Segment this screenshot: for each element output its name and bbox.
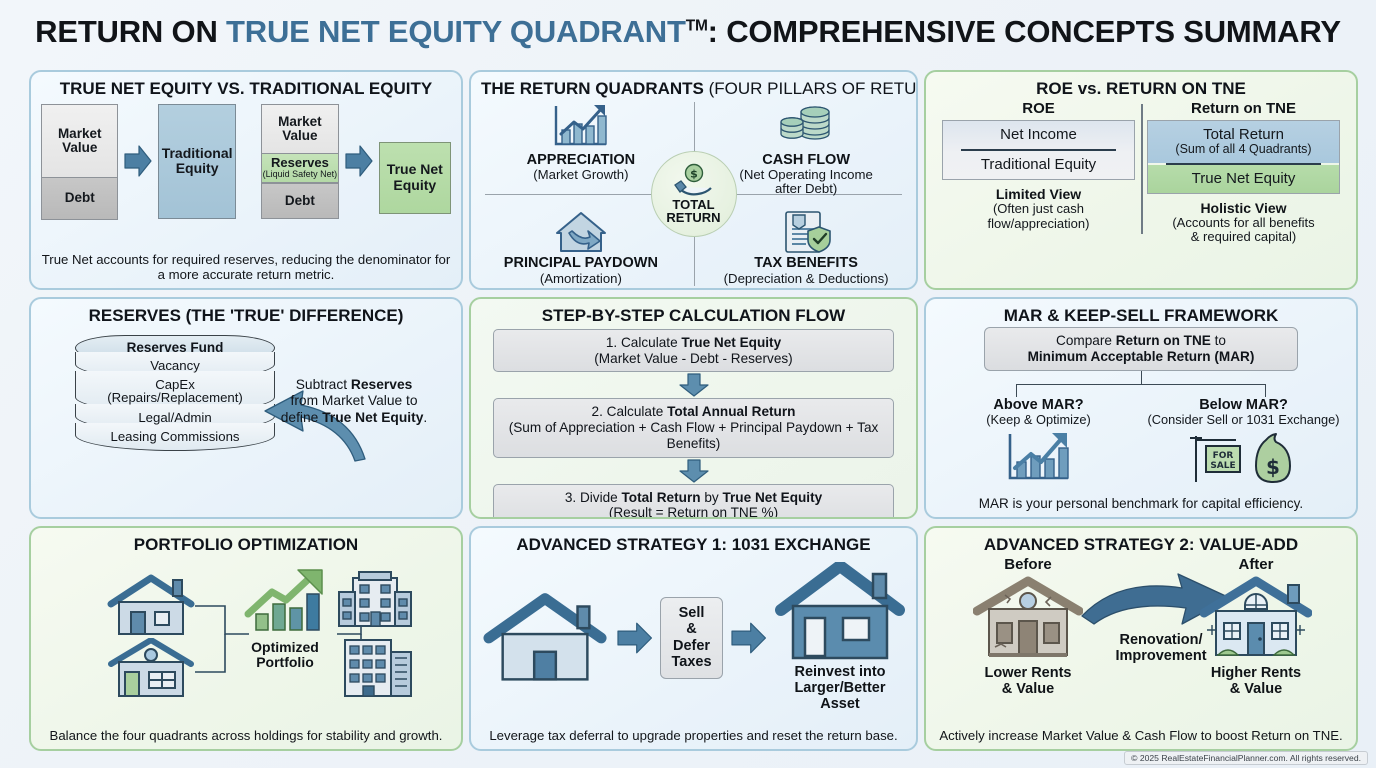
step-2-bold: Total Annual Return (667, 404, 795, 419)
panel-title: ADVANCED STRATEGY 1: 1031 EXCHANGE (481, 536, 906, 554)
svg-text:SALE: SALE (1210, 461, 1235, 471)
note-post-3: . (423, 410, 427, 425)
reinvest-label: Reinvest into Larger/Better Asset (774, 665, 906, 713)
traditional-stack: Market Value Debt (41, 104, 118, 220)
right-arrow-icon (731, 621, 766, 655)
tne-denominator: True Net Equity (1148, 165, 1339, 193)
panel-true-net-equity-vs-traditional: TRUE NET EQUITY VS. TRADITIONAL EQUITY M… (29, 70, 463, 290)
compare-bold: Return on TNE (1116, 333, 1211, 348)
quadrant-principal-paydown: PRINCIPAL PAYDOWN (Amortization) (481, 209, 681, 285)
total-return-label: TOTAL RETURN (666, 198, 720, 224)
for-sale-sign-and-money-bag-icon: FOR SALE $ (1184, 430, 1304, 486)
hand-with-coin-icon: $ (672, 163, 716, 197)
tne-numerator: Total Return (Sum of all 4 Quadrants) (1148, 121, 1339, 163)
rundown-house-icon (973, 575, 1083, 665)
market-value-segment: Market Value (42, 105, 117, 177)
below-mar-column: Below MAR? (Consider Sell or 1031 Exchan… (1141, 397, 1346, 485)
apartment-building-icon (337, 568, 417, 630)
panel-1031-exchange: ADVANCED STRATEGY 1: 1031 EXCHANGE Sell … (469, 526, 918, 751)
down-arrow-2-container (481, 459, 906, 483)
quadrant-name: PRINCIPAL PAYDOWN (481, 256, 681, 271)
true-net-equity-box: True Net Equity (379, 142, 451, 214)
tne-footnote: Holistic View (Accounts for all benefits… (1147, 200, 1340, 245)
panel-caption: Balance the four quadrants across holdin… (39, 728, 453, 744)
quadrant-sub: (Depreciation & Deductions) (706, 272, 906, 286)
quadrant-sub: (Market Growth) (481, 168, 681, 182)
note-bold: Reserves (351, 377, 412, 392)
mar-outcomes: Above MAR? (Keep & Optimize) Below MAR? … (936, 397, 1346, 485)
growth-chart-icon (1004, 430, 1074, 486)
branch-stem (1141, 371, 1142, 384)
debt-segment: Debt (42, 177, 117, 219)
house-icon (103, 572, 199, 638)
down-arrow-icon (677, 459, 711, 483)
step-2-line1: 2. Calculate Total Annual Return (500, 404, 887, 420)
below-mar-sub: (Consider Sell or 1031 Exchange) (1141, 413, 1346, 427)
panel-roe-vs-return-tne: ROE vs. RETURN ON TNE ROE Net Income Tra… (924, 70, 1358, 290)
steps-container: 1. Calculate True Net Equity (Market Val… (481, 329, 906, 519)
panel-calculation-flow: STEP-BY-STEP CALCULATION FLOW 1. Calcula… (469, 297, 918, 519)
panel-title: MAR & KEEP-SELL FRAMEWORK (936, 307, 1346, 325)
roe-heading: ROE (942, 100, 1135, 117)
step-3-pre: 3. Divide (565, 490, 622, 505)
roe-column: ROE Net Income Traditional Equity Limite… (936, 100, 1141, 250)
note-bold-3: True Net Equity (322, 410, 423, 425)
after-label: After (1186, 556, 1326, 573)
quadrant-name: APPRECIATION (481, 153, 681, 168)
title-part2: : COMPREHENSIVE CONCEPTS SUMMARY (708, 14, 1341, 49)
svg-text:$: $ (1266, 455, 1280, 479)
tne-foot-bold: Holistic View (1147, 200, 1340, 216)
panel-reserves: RESERVES (THE 'TRUE' DIFFERENCE) Reserve… (29, 297, 463, 519)
step-3-bold2: True Net Equity (722, 490, 822, 505)
down-arrow-icon (677, 373, 711, 397)
right-arrow-icon (124, 144, 152, 178)
title-accent: TRUE NET EQUITY QUADRANT (226, 14, 686, 49)
renovated-house-icon (1200, 575, 1312, 665)
step-2-pre: 2. Calculate (592, 404, 668, 419)
panel-caption: Actively increase Market Value & Cash Fl… (934, 728, 1348, 744)
compare-line1: Compare Return on TNE to (993, 333, 1289, 349)
step-3-line1: 3. Divide Total Return by True Net Equit… (500, 490, 887, 506)
equity-comparison-row: Market Value Debt Traditional Equity Mar… (41, 104, 451, 219)
portfolio-diagram: Optimized Portfolio (41, 556, 451, 706)
traditional-equity-box: Traditional Equity (158, 104, 235, 219)
quadrant-tax-benefits: TAX BENEFITS (Depreciation & Deductions) (706, 209, 906, 285)
panel-title-bold: THE RETURN QUADRANTS (481, 79, 709, 98)
branch-right (1265, 384, 1266, 397)
quadrant-diagram: APPRECIATION (Market Growth) (481, 100, 906, 288)
step-1-line1: 1. Calculate True Net Equity (500, 335, 887, 351)
roe-denominator: Traditional Equity (943, 151, 1134, 179)
panel-title: ADVANCED STRATEGY 2: VALUE-ADD (936, 536, 1346, 554)
decision-branches (976, 371, 1306, 397)
svg-text:FOR: FOR (1212, 451, 1233, 461)
tne-numerator-main: Total Return (1203, 126, 1284, 143)
after-group: After (1186, 556, 1326, 698)
quadrant-sub: (Amortization) (481, 272, 681, 286)
branch-bar (1016, 384, 1267, 385)
step-3-mid: by (701, 490, 723, 505)
roe-foot-sub: (Often just cash flow/appreciation) (942, 202, 1135, 231)
panel-caption: Leverage tax deferral to upgrade propert… (479, 728, 908, 744)
step-2: 2. Calculate Total Annual Return (Sum of… (493, 398, 894, 457)
step-3-line2: (Result = Return on TNE %) (500, 505, 887, 519)
panel-title: THE RETURN QUADRANTS (FOUR PILLARS OF RE… (481, 80, 906, 98)
panel-title: TRUE NET EQUITY VS. TRADITIONAL EQUITY (41, 80, 451, 98)
page-title: RETURN ON TRUE NET EQUITY QUADRANTTM: CO… (0, 0, 1376, 47)
note-line-1: Subtract Reserves (265, 377, 443, 393)
center-divider (1141, 104, 1143, 234)
panel-title-light: (FOUR PILLARS OF RETURN) (709, 79, 918, 98)
step-3-bold: Total Return (622, 490, 701, 505)
quadrant-name: TAX BENEFITS (706, 256, 906, 271)
office-building-icon (337, 634, 417, 700)
roe-fraction: Net Income Traditional Equity (942, 120, 1135, 180)
panel-title: ROE vs. RETURN ON TNE (936, 80, 1346, 98)
value-add-diagram: Before Lower Rents & Value (936, 556, 1346, 716)
compare-line2: Minimum Acceptable Return (MAR) (993, 349, 1289, 365)
debt-segment-2: Debt (262, 183, 337, 218)
green-growth-chart-icon (242, 568, 328, 638)
before-sub: Lower Rents & Value (958, 666, 1098, 698)
quadrant-name: CASH FLOW (706, 153, 906, 168)
reserves-cylinder: Reserves Fund Vacancy CapEx (Repairs/Rep… (75, 335, 275, 451)
panel-title: RESERVES (THE 'TRUE' DIFFERENCE) (41, 307, 451, 325)
svg-text:$: $ (690, 168, 698, 181)
above-mar-sub: (Keep & Optimize) (936, 413, 1141, 427)
panel-caption: MAR is your personal benchmark for capit… (934, 496, 1348, 512)
large-house-icon (775, 562, 905, 664)
arrow-1-container (124, 104, 152, 219)
copyright-footer: © 2025 RealEstateFinancialPlanner.com. A… (1124, 751, 1368, 765)
compare-post: to (1211, 333, 1226, 348)
tne-foot-sub: (Accounts for all benefits & required ca… (1147, 216, 1340, 245)
house-icon (103, 638, 199, 700)
below-mar-label: Below MAR? (1141, 397, 1346, 413)
above-mar-column: Above MAR? (Keep & Optimize) (936, 397, 1141, 485)
reserves-segment: Reserves (Liquid Safety Net) (262, 153, 337, 183)
coins-icon (775, 102, 837, 152)
arrow-2-container (345, 104, 373, 219)
small-house-icon (481, 590, 609, 686)
reserves-note: Subtract Reserves from Market Value to d… (265, 377, 443, 426)
reserves-label: Reserves (271, 156, 329, 170)
tax-document-shield-icon (778, 209, 834, 255)
down-arrow-1-container (481, 373, 906, 397)
above-mar-label: Above MAR? (936, 397, 1141, 413)
reinvest-group: Reinvest into Larger/Better Asset (774, 562, 906, 713)
right-arrow-icon (617, 621, 652, 655)
reserves-sublabel: (Liquid Safety Net) (263, 170, 338, 179)
roe-foot-bold: Limited View (942, 186, 1135, 202)
compare-pre: Compare (1056, 333, 1116, 348)
note-pre: Subtract (296, 377, 351, 392)
house-down-arrow-icon (550, 209, 612, 255)
note-pre-3: define (281, 410, 322, 425)
total-return-circle: $ TOTAL RETURN (651, 151, 737, 237)
panel-portfolio-optimization: PORTFOLIO OPTIMIZATION (29, 526, 463, 751)
step-3: 3. Divide Total Return by True Net Equit… (493, 484, 894, 519)
compare-box: Compare Return on TNE to Minimum Accepta… (984, 327, 1298, 372)
roe-footnote: Limited View (Often just cash flow/appre… (942, 186, 1135, 231)
title-part1: RETURN ON (35, 14, 226, 49)
tne-fraction: Total Return (Sum of all 4 Quadrants) Tr… (1147, 120, 1340, 194)
step-1-bold: True Net Equity (681, 335, 781, 350)
panel-caption: True Net accounts for required reserves,… (39, 252, 453, 283)
roe-numerator: Net Income (943, 121, 1134, 149)
tne-column: Return on TNE Total Return (Sum of all 4… (1141, 100, 1346, 250)
true-net-stack: Market Value Reserves (Liquid Safety Net… (261, 104, 338, 219)
tne-heading: Return on TNE (1147, 100, 1340, 117)
step-2-line2: (Sum of Appreciation + Cash Flow + Princ… (500, 420, 887, 452)
market-value-segment-2: Market Value (262, 105, 337, 153)
after-sub: Higher Rents & Value (1186, 666, 1326, 698)
panel-mar-keep-sell: MAR & KEEP-SELL FRAMEWORK Compare Return… (924, 297, 1358, 519)
before-label: Before (958, 556, 1098, 573)
growth-chart-icon (550, 102, 612, 152)
step-1-line2: (Market Value - Debt - Reserves) (500, 351, 887, 367)
title-tm: TM (686, 18, 708, 35)
quadrant-appreciation: APPRECIATION (Market Growth) (481, 102, 681, 182)
panel-title: PORTFOLIO OPTIMIZATION (41, 536, 451, 554)
quadrant-cash-flow: CASH FLOW (Net Operating Income after De… (706, 102, 906, 197)
panel-grid: TRUE NET EQUITY VS. TRADITIONAL EQUITY M… (26, 70, 1358, 750)
roe-comparison: ROE Net Income Traditional Equity Limite… (936, 100, 1346, 250)
step-1: 1. Calculate True Net Equity (Market Val… (493, 329, 894, 373)
tne-numerator-sub: (Sum of all 4 Quadrants) (1150, 143, 1337, 157)
panel-title: STEP-BY-STEP CALCULATION FLOW (481, 307, 906, 325)
sell-defer-taxes-box: Sell & Defer Taxes (660, 597, 722, 679)
panel-value-add: ADVANCED STRATEGY 2: VALUE-ADD Before Lo… (924, 526, 1358, 751)
exchange-flow: Sell & Defer Taxes Reinvest into Larger/… (481, 568, 906, 708)
note-line-3: define True Net Equity. (265, 410, 443, 426)
before-group: Before Lower Rents & Value (958, 556, 1098, 698)
reserve-layer: Leasing Commissions (75, 423, 275, 451)
optimized-portfolio-label: Optimized Portfolio (237, 640, 333, 670)
panel-return-quadrants: THE RETURN QUADRANTS (FOUR PILLARS OF RE… (469, 70, 918, 290)
right-arrow-icon (345, 144, 373, 178)
optimized-portfolio-group: Optimized Portfolio (237, 568, 333, 670)
branch-left (1016, 384, 1017, 397)
note-line-2: from Market Value to (265, 393, 443, 409)
step-1-pre: 1. Calculate (606, 335, 682, 350)
